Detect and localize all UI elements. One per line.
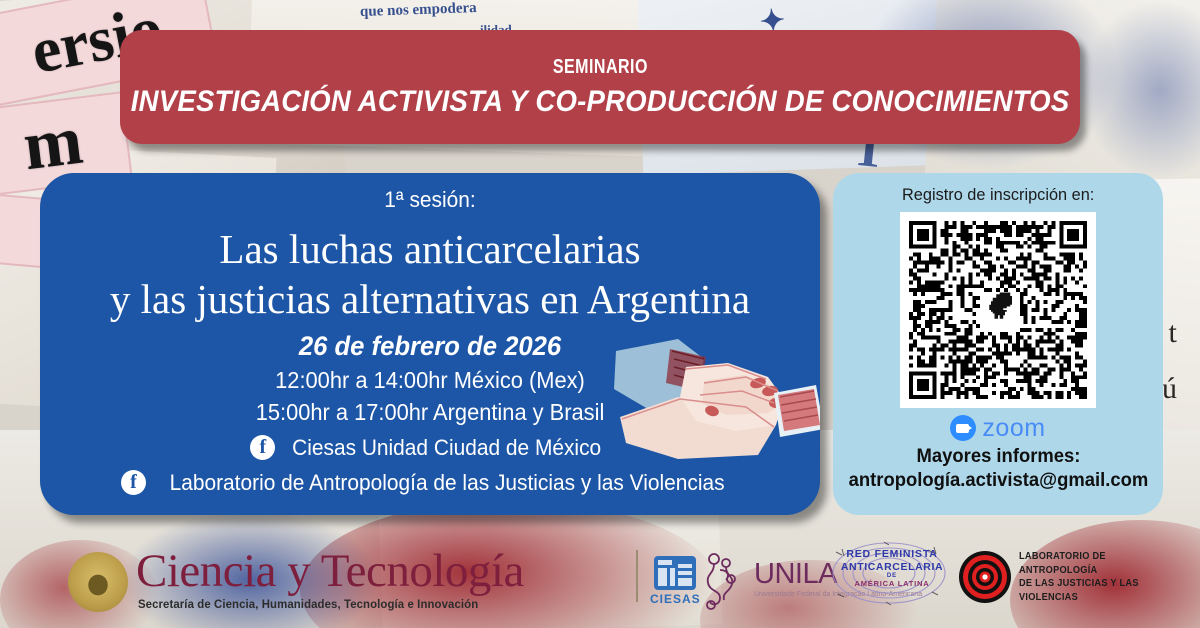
t-rex-dinosaur-icon xyxy=(977,289,1019,331)
seminar-title: INVESTIGACIÓN ACTIVISTA Y CO-PRODUCCIÓN … xyxy=(131,85,1070,119)
informes-label: Mayores informes: xyxy=(916,446,1080,468)
facebook-label-laboratorio: Laboratorio de Antropología de las Justi… xyxy=(170,470,725,496)
red-feminista-line-4: AMÉRICA LATINA xyxy=(836,579,948,588)
registration-panel: Registro de inscripción en: zoom Mayores… xyxy=(833,173,1163,515)
qr-code[interactable] xyxy=(900,212,1096,408)
facebook-link-laboratorio[interactable]: Laboratorio de Antropología de las Justi… xyxy=(40,470,820,496)
session-title-line-2: y las justicias alternativas en Argentin… xyxy=(40,279,820,321)
mexican-eagle-seal-icon xyxy=(68,552,128,612)
logo-ciesas: CIESAS xyxy=(650,556,701,606)
ciesas-mark-icon xyxy=(654,556,696,590)
registration-label: Registro de inscripción en: xyxy=(902,185,1094,205)
footer-logos: Ciencia y Tecnología Secretaría de Cienc… xyxy=(0,518,1200,628)
red-feminista-line-1: RED FEMINISTA xyxy=(836,548,948,561)
footer-divider xyxy=(636,550,638,602)
zoom-platform-badge: zoom xyxy=(950,415,1045,441)
laboratorio-line-2: DE LAS JUSTICIAS Y LAS VIOLENCIAS xyxy=(1019,577,1186,604)
red-spiral-eye-icon xyxy=(958,550,1012,604)
seminar-kicker: SEMINARIO xyxy=(553,56,648,79)
session-title-line-1: Las luchas anticarcelarias xyxy=(40,229,820,271)
session-time-mexico: 12:00hr a 14:00hr México (Mex) xyxy=(60,367,801,394)
cyt-subtitle: Secretaría de Ciencia, Humanidades, Tecn… xyxy=(138,599,522,611)
session-number-label: 1ª sesión: xyxy=(60,187,801,213)
facebook-icon xyxy=(121,470,146,495)
laboratorio-line-1: LABORATORIO DE ANTROPOLOGÍA xyxy=(1019,550,1186,577)
logo-laboratorio-antropologia: LABORATORIO DE ANTROPOLOGÍA DE LAS JUSTI… xyxy=(958,550,1200,604)
facebook-label-ciesas: Ciesas Unidad Ciudad de México xyxy=(292,435,601,461)
ciesas-label: CIESAS xyxy=(650,592,701,606)
facebook-icon xyxy=(250,435,275,460)
seminar-header-banner: SEMINARIO INVESTIGACIÓN ACTIVISTA Y CO-P… xyxy=(120,30,1080,144)
logo-red-feminista-anticarcelaria: RED FEMINISTA ANTICARCELARIA DE AMÉRICA … xyxy=(828,540,950,606)
session-time-argentina: 15:00hr a 17:00hr Argentina y Brasil xyxy=(60,399,801,426)
session-date: 26 de febrero de 2026 xyxy=(60,331,801,362)
facebook-link-ciesas[interactable]: Ciesas Unidad Ciudad de México xyxy=(40,435,820,461)
cyt-title: Ciencia y Tecnología xyxy=(136,548,524,595)
unila-ornament-icon xyxy=(700,550,752,610)
contact-email[interactable]: antropología.activista@gmail.com xyxy=(848,470,1148,492)
session-info-panel: 1ª sesión: Las luchas anticarcelarias y … xyxy=(40,173,820,515)
zoom-label: zoom xyxy=(982,416,1045,441)
logo-ciencia-y-tecnologia: Ciencia y Tecnología Secretaría de Cienc… xyxy=(68,548,524,612)
red-feminista-line-2: ANTICARCELARIA xyxy=(836,561,948,574)
zoom-camera-icon xyxy=(950,415,976,441)
